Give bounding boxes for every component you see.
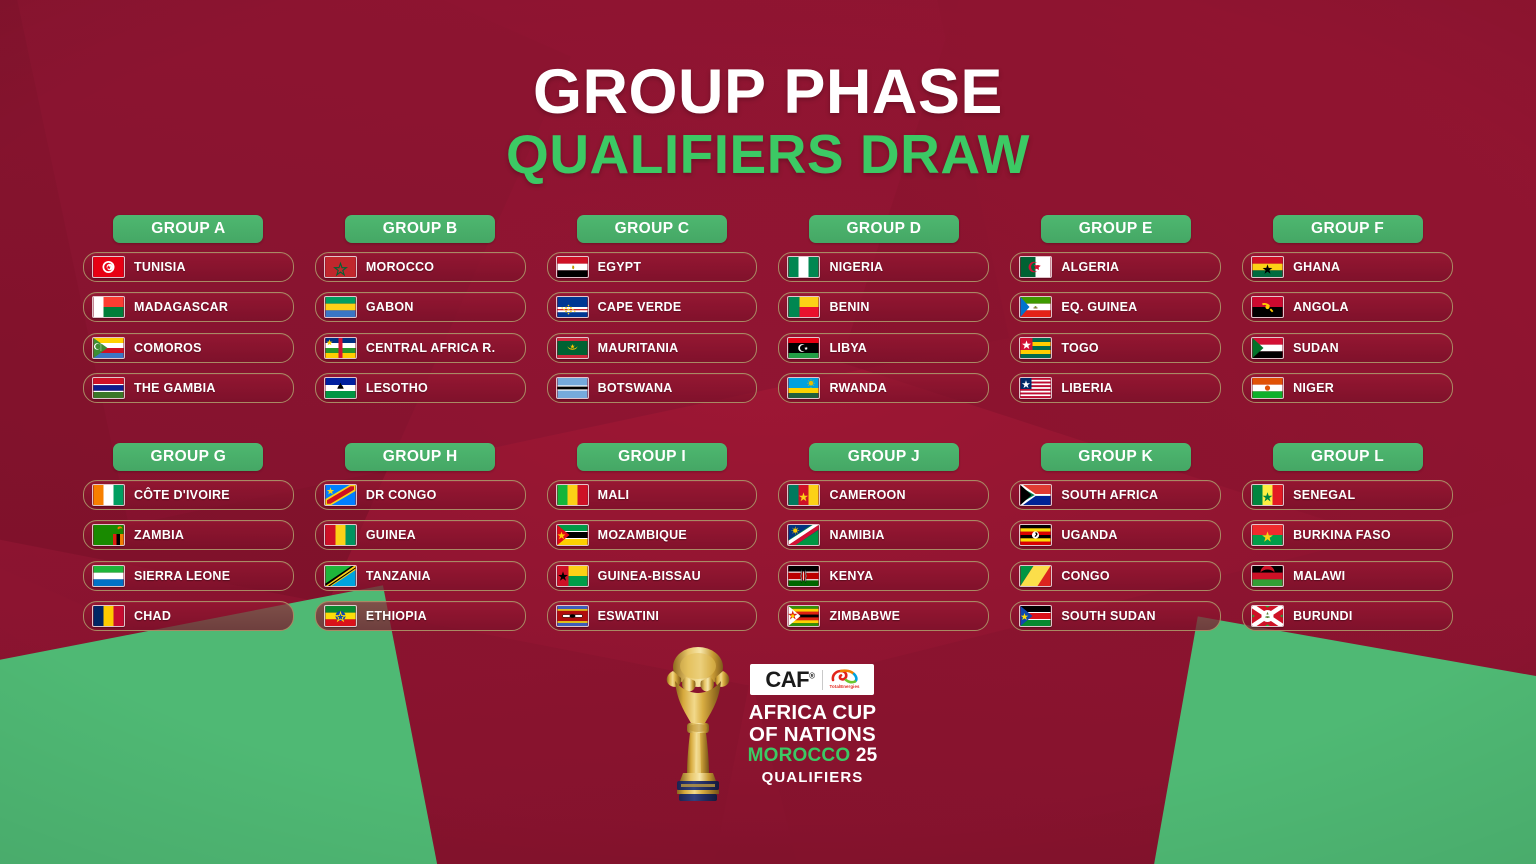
team-name: NIGER [1293,381,1334,395]
flag-equatorial-guinea-icon [1019,296,1052,318]
host-and-year: MOROCCO 25 [748,745,878,767]
flag-benin-icon [787,296,820,318]
team-row[interactable]: TOGO [1010,333,1221,363]
group-card-e: GROUP EALGERIAEQ. GUINEATOGOLIBERIA [1010,215,1221,414]
flag-gabon-icon [324,296,357,318]
team-name: MADAGASCAR [134,300,228,314]
totalenergies-logo: TotalEnergies [830,669,860,689]
team-name: COMOROS [134,341,202,355]
flag-zimbabwe-icon [787,605,820,627]
team-row[interactable]: ZIMBABWE [778,601,989,631]
flag-libya-icon [787,337,820,359]
team-name: UGANDA [1061,528,1117,542]
team-row[interactable]: MAURITANIA [547,333,758,363]
team-row[interactable]: CÔTE D'IVOIRE [83,480,294,510]
team-row[interactable]: TUNISIA [83,252,294,282]
flag-ghana-icon [1251,256,1284,278]
team-name: ZIMBABWE [829,609,900,623]
team-name: LIBERIA [1061,381,1113,395]
team-row[interactable]: GUINEA-BISSAU [547,561,758,591]
title-line-1: GROUP PHASE [0,62,1536,124]
team-name: SIERRA LEONE [134,569,230,583]
team-name: CÔTE D'IVOIRE [134,488,230,502]
team-name: ESWATINI [598,609,660,623]
team-row[interactable]: CONGO [1010,561,1221,591]
caf-logo: CAF® TotalEnergies [750,664,874,695]
team-name: KENYA [829,569,873,583]
flag-chad-icon [92,605,125,627]
team-row[interactable]: MOZAMBIQUE [547,520,758,550]
group-card-f: GROUP FGHANAANGOLASUDANNIGER [1242,215,1453,414]
group-card-c: GROUP CEGYPTCAPE VERDEMAURITANIABOTSWANA [547,215,758,414]
group-card-h: GROUP HDR CONGOGUINEATANZANIAETHIOPIA [315,443,526,642]
team-name: DR CONGO [366,488,437,502]
team-row[interactable]: BOTSWANA [547,373,758,403]
team-row[interactable]: GHANA [1242,252,1453,282]
host-country: MOROCCO [748,745,851,766]
flag-eswatini-icon [556,605,589,627]
team-row[interactable]: COMOROS [83,333,294,363]
team-row[interactable]: ALGERIA [1010,252,1221,282]
flag-congo-icon [1019,565,1052,587]
flag-ivory-coast-icon [92,484,125,506]
team-name: BURUNDI [1293,609,1352,623]
team-row[interactable]: EQ. GUINEA [1010,292,1221,322]
team-row[interactable]: CENTRAL AFRICA R. [315,333,526,363]
team-row[interactable]: GUINEA [315,520,526,550]
flag-comoros-icon [92,337,125,359]
team-name: GUINEA [366,528,416,542]
tournament-logo: CAF® TotalEnergies AFRICA CUP OF NATIONS… [0,645,1536,805]
team-row[interactable]: MOROCCO [315,252,526,282]
team-name: NAMIBIA [829,528,884,542]
flag-guinea-icon [324,524,357,546]
logo-divider [822,670,823,690]
team-name: BURKINA FASO [1293,528,1391,542]
team-row[interactable]: LIBYA [778,333,989,363]
team-row[interactable]: MALAWI [1242,561,1453,591]
team-row[interactable]: BURKINA FASO [1242,520,1453,550]
team-row[interactable]: DR CONGO [315,480,526,510]
team-row[interactable]: SOUTH AFRICA [1010,480,1221,510]
afcon-trophy-icon [659,645,737,805]
flag-south-sudan-icon [1019,605,1052,627]
caf-wordmark: CAF® [765,669,814,691]
group-card-l: GROUP LSENEGALBURKINA FASOMALAWIBURUNDI [1242,443,1453,642]
flag-mauritania-icon [556,337,589,359]
team-name: EQ. GUINEA [1061,300,1137,314]
flag-malawi-icon [1251,565,1284,587]
team-row[interactable]: ANGOLA [1242,292,1453,322]
team-name: NIGERIA [829,260,883,274]
team-row[interactable]: NIGER [1242,373,1453,403]
flag-burundi-icon [1251,605,1284,627]
team-name: TOGO [1061,341,1099,355]
team-name: SENEGAL [1293,488,1355,502]
team-name: BENIN [829,300,869,314]
team-name: CAMEROON [829,488,905,502]
team-row[interactable]: TANZANIA [315,561,526,591]
title-line-2: QUALIFIERS DRAW [0,126,1536,182]
team-name: ZAMBIA [134,528,184,542]
flag-nigeria-icon [787,256,820,278]
group-header[interactable]: GROUP B [345,215,495,243]
team-row[interactable]: RWANDA [778,373,989,403]
team-row[interactable]: MADAGASCAR [83,292,294,322]
flag-dr-congo-icon [324,484,357,506]
flag-algeria-icon [1019,256,1052,278]
group-header[interactable]: GROUP C [577,215,727,243]
group-card-d: GROUP DNIGERIABENINLIBYARWANDA [778,215,989,414]
flag-namibia-icon [787,524,820,546]
group-header[interactable]: GROUP G [113,443,263,471]
team-name: THE GAMBIA [134,381,216,395]
team-row[interactable]: ZAMBIA [83,520,294,550]
team-name: MALAWI [1293,569,1345,583]
flag-sierra-leone-icon [92,565,125,587]
team-name: SUDAN [1293,341,1339,355]
team-name: LESOTHO [366,381,428,395]
group-header[interactable]: GROUP A [113,215,263,243]
team-name: TANZANIA [366,569,431,583]
team-row[interactable]: KENYA [778,561,989,591]
team-row[interactable]: BENIN [778,292,989,322]
page-title: GROUP PHASE QUALIFIERS DRAW [0,0,1536,182]
flag-uganda-icon [1019,524,1052,546]
team-name: SOUTH AFRICA [1061,488,1158,502]
group-header[interactable]: GROUP F [1273,215,1423,243]
sponsor-name: TotalEnergies [830,685,860,689]
flag-tanzania-icon [324,565,357,587]
team-row[interactable]: BURUNDI [1242,601,1453,631]
grid-row-spacer [83,414,1453,443]
team-name: RWANDA [829,381,887,395]
team-row[interactable]: SUDAN [1242,333,1453,363]
team-row[interactable]: LESOTHO [315,373,526,403]
flag-tunisia-icon [92,256,125,278]
group-header[interactable]: GROUP H [345,443,495,471]
team-row[interactable]: EGYPT [547,252,758,282]
team-row[interactable]: UGANDA [1010,520,1221,550]
team-row[interactable]: NIGERIA [778,252,989,282]
flag-sudan-icon [1251,337,1284,359]
team-row[interactable]: GABON [315,292,526,322]
team-row[interactable]: ESWATINI [547,601,758,631]
group-card-g: GROUP GCÔTE D'IVOIREZAMBIASIERRA LEONECH… [83,443,294,642]
flag-gambia-icon [92,377,125,399]
group-card-i: GROUP IMALIMOZAMBIQUEGUINEA-BISSAUESWATI… [547,443,758,642]
flag-madagascar-icon [92,296,125,318]
team-row[interactable]: LIBERIA [1010,373,1221,403]
flag-rwanda-icon [787,377,820,399]
team-name: BOTSWANA [598,381,673,395]
flag-mali-icon [556,484,589,506]
groups-grid: GROUP ATUNISIAMADAGASCARCOMOROSTHE GAMBI… [83,215,1453,642]
flag-cape-verde-icon [556,296,589,318]
team-name: ETHIOPIA [366,609,427,623]
team-row[interactable]: CAMEROON [778,480,989,510]
team-name: CHAD [134,609,171,623]
group-header[interactable]: GROUP D [809,215,959,243]
group-header[interactable]: GROUP I [577,443,727,471]
team-name: CAPE VERDE [598,300,682,314]
flag-togo-icon [1019,337,1052,359]
team-name: MAURITANIA [598,341,679,355]
team-name: CENTRAL AFRICA R. [366,341,495,355]
flag-ethiopia-icon [324,605,357,627]
registered-mark: ® [809,671,814,680]
flag-central-african-republic-icon [324,337,357,359]
group-card-a: GROUP ATUNISIAMADAGASCARCOMOROSTHE GAMBI… [83,215,294,414]
group-header[interactable]: GROUP K [1041,443,1191,471]
team-row[interactable]: SIERRA LEONE [83,561,294,591]
flag-niger-icon [1251,377,1284,399]
team-name: MALI [598,488,630,502]
flag-cameroon-icon [787,484,820,506]
team-row[interactable]: MALI [547,480,758,510]
flag-south-africa-icon [1019,484,1052,506]
flag-lesotho-icon [324,377,357,399]
group-header[interactable]: GROUP J [809,443,959,471]
flag-botswana-icon [556,377,589,399]
group-card-j: GROUP JCAMEROONNAMIBIAKENYAZIMBABWE [778,443,989,642]
team-name: GHANA [1293,260,1340,274]
team-name: ANGOLA [1293,300,1349,314]
group-card-b: GROUP BMOROCCOGABONCENTRAL AFRICA R.LESO… [315,215,526,414]
flag-guinea-bissau-icon [556,565,589,587]
group-header[interactable]: GROUP E [1041,215,1191,243]
team-row[interactable]: CHAD [83,601,294,631]
team-name: MOZAMBIQUE [598,528,687,542]
group-header[interactable]: GROUP L [1273,443,1423,471]
team-name: GUINEA-BISSAU [598,569,701,583]
team-row[interactable]: CAPE VERDE [547,292,758,322]
team-row[interactable]: SENEGAL [1242,480,1453,510]
team-row[interactable]: THE GAMBIA [83,373,294,403]
flag-morocco-icon [324,256,357,278]
team-row[interactable]: NAMIBIA [778,520,989,550]
group-card-k: GROUP KSOUTH AFRICAUGANDACONGOSOUTH SUDA… [1010,443,1221,642]
team-name: CONGO [1061,569,1109,583]
team-row[interactable]: ETHIOPIA [315,601,526,631]
flag-angola-icon [1251,296,1284,318]
flag-senegal-icon [1251,484,1284,506]
stage-label: QUALIFIERS [762,769,864,786]
team-row[interactable]: SOUTH SUDAN [1010,601,1221,631]
flag-burkina-faso-icon [1251,524,1284,546]
edition-year: 25 [856,745,878,766]
team-name: TUNISIA [134,260,186,274]
team-name: GABON [366,300,414,314]
flag-egypt-icon [556,256,589,278]
competition-line-1: AFRICA CUP [749,702,877,724]
team-name: LIBYA [829,341,867,355]
team-name: EGYPT [598,260,642,274]
team-name: SOUTH SUDAN [1061,609,1155,623]
flag-liberia-icon [1019,377,1052,399]
team-name: MOROCCO [366,260,434,274]
team-name: ALGERIA [1061,260,1119,274]
competition-line-2: OF NATIONS [749,724,876,746]
flag-zambia-icon [92,524,125,546]
flag-kenya-icon [787,565,820,587]
flag-mozambique-icon [556,524,589,546]
